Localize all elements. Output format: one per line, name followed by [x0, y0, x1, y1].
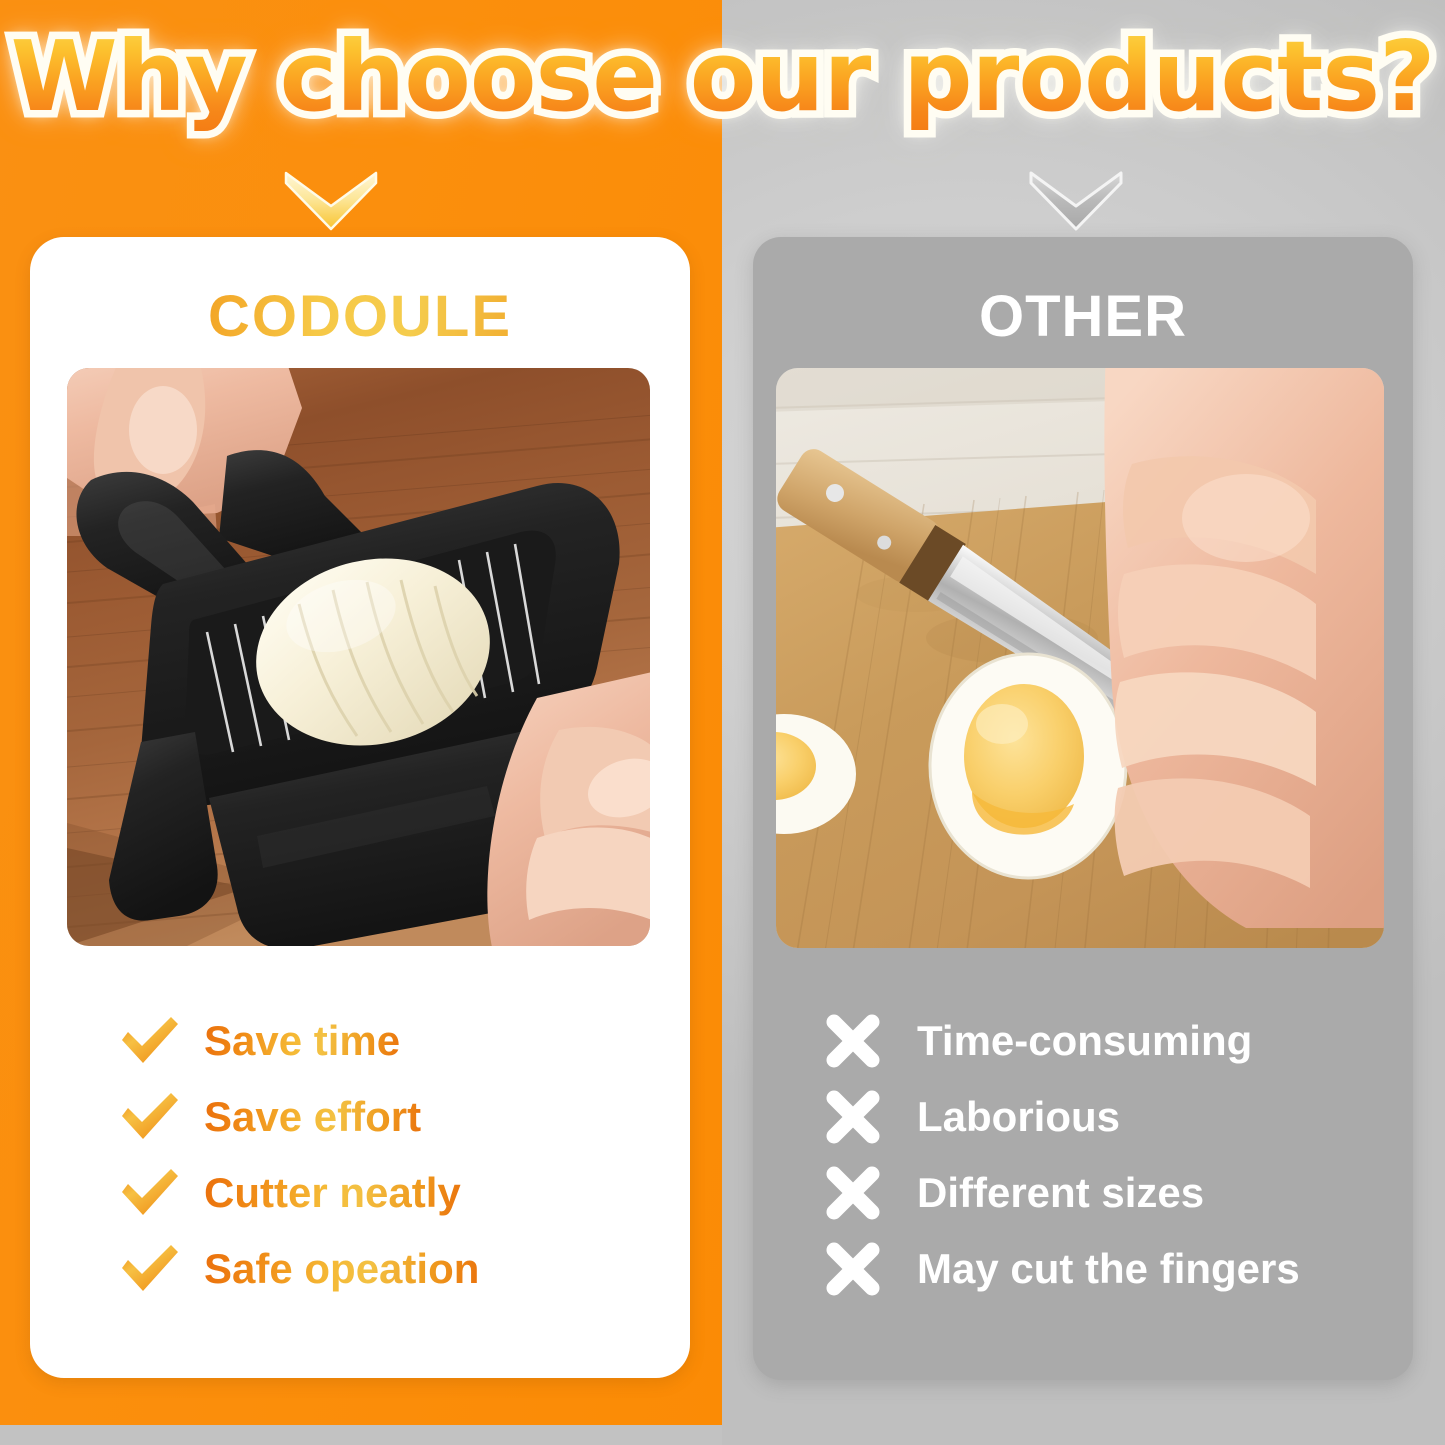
list-item-label: Cutter neatly: [204, 1169, 461, 1217]
page-title: Why choose our products? Why choose our …: [0, 22, 1445, 137]
check-icon: [118, 1243, 204, 1295]
page-title-text: Why choose our products?: [11, 20, 1435, 133]
cross-icon: [825, 1089, 917, 1145]
list-item-label: Save effort: [204, 1093, 421, 1141]
list-item: Cutter neatly: [30, 1155, 690, 1231]
benefits-list: Save time Save effort Cutter neatly: [30, 1003, 690, 1307]
other-product-photo: [776, 368, 1384, 948]
chevron-down-icon-right: [1028, 168, 1124, 237]
list-item: Safe opeation: [30, 1231, 690, 1307]
list-item: Different sizes: [753, 1155, 1413, 1231]
list-item: May cut the fingers: [753, 1231, 1413, 1307]
other-product-card: OTHER: [753, 237, 1413, 1380]
cross-icon: [825, 1013, 917, 1069]
cross-icon: [825, 1241, 917, 1297]
list-item-label: Safe opeation: [204, 1245, 479, 1293]
bottom-strip: [0, 1425, 722, 1445]
list-item: Save effort: [30, 1079, 690, 1155]
list-item: Time-consuming: [753, 1003, 1413, 1079]
brand-name-heading: CODOULE: [30, 237, 690, 350]
chevron-down-icon-left: [283, 168, 379, 237]
comparison-poster: Why choose our products? Why choose our …: [0, 0, 1445, 1445]
list-item-label: Laborious: [917, 1093, 1120, 1141]
our-product-card: CODOULE: [30, 237, 690, 1378]
check-icon: [118, 1091, 204, 1143]
our-product-photo: [67, 368, 650, 946]
drawbacks-list: Time-consuming Laborious: [753, 1003, 1413, 1307]
list-item-label: May cut the fingers: [917, 1245, 1300, 1293]
check-icon: [118, 1015, 204, 1067]
list-item-label: Save time: [204, 1017, 400, 1065]
other-name-heading: OTHER: [753, 237, 1413, 350]
list-item-label: Different sizes: [917, 1169, 1204, 1217]
list-item: Save time: [30, 1003, 690, 1079]
list-item-label: Time-consuming: [917, 1017, 1252, 1065]
check-icon: [118, 1167, 204, 1219]
cross-icon: [825, 1165, 917, 1221]
list-item: Laborious: [753, 1079, 1413, 1155]
